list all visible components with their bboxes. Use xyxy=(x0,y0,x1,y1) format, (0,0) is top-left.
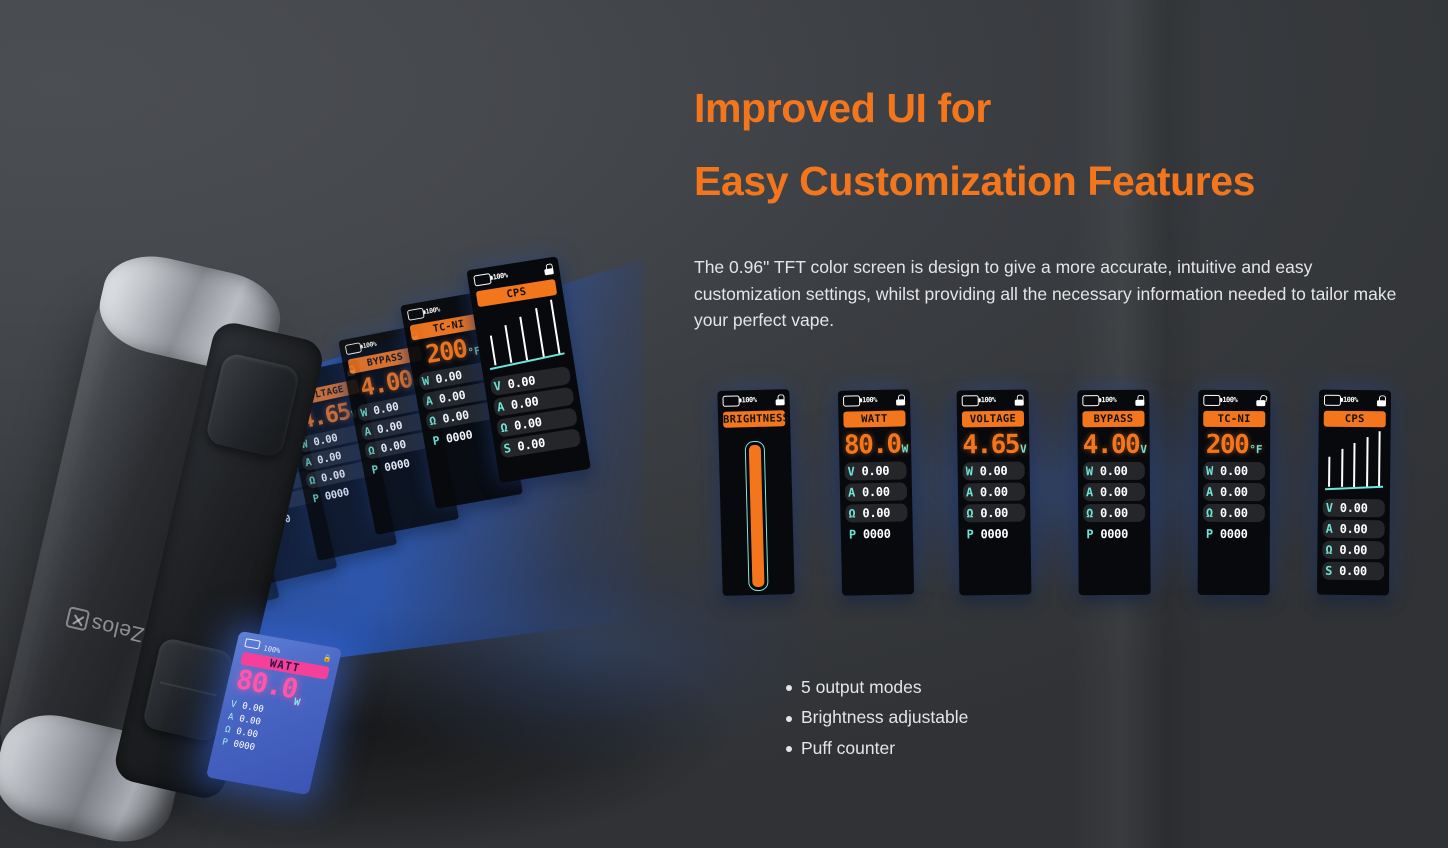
main-value-voltage: 4.65V xyxy=(962,431,1024,458)
metric-row: V0.00 xyxy=(1323,498,1385,517)
lock-icon: 🔒 xyxy=(322,653,332,662)
metric-rows: W0.00A0.00Ω0.00P0000 xyxy=(1203,461,1265,542)
metric-value: 0.00 xyxy=(441,407,470,425)
metric-value: 0.00 xyxy=(376,418,403,436)
metric-value: 0.00 xyxy=(980,484,1008,498)
bullet-item-0: 5 output modes xyxy=(786,674,968,701)
metric-value: 0000 xyxy=(863,526,891,541)
x-logo-icon xyxy=(65,606,90,631)
metric-label: P xyxy=(849,527,863,541)
metric-value: 0000 xyxy=(980,526,1008,540)
metric-row: P0000 xyxy=(846,524,908,543)
metric-label: A xyxy=(1326,521,1340,535)
metric-value: 0.00 xyxy=(510,394,540,412)
main-unit: °F xyxy=(1249,443,1262,456)
metric-row: Ω0.00 xyxy=(1322,540,1384,559)
metric-rows: W0.00A0.00Ω0.00P0000 xyxy=(963,461,1026,543)
metric-label: Ω xyxy=(1086,506,1100,520)
mode-badge-cps[interactable]: CPS xyxy=(1324,411,1386,427)
battery-indicator: 100% xyxy=(1203,395,1237,406)
lock-icon xyxy=(1256,395,1265,406)
battery-indicator: 100% xyxy=(345,339,377,354)
lock-icon xyxy=(543,263,554,275)
puff-bar xyxy=(535,308,545,358)
metric-value: 0.00 xyxy=(1339,563,1367,577)
battery-percent: 100% xyxy=(492,272,508,282)
mode-badge-brightness[interactable]: BRIGHTNESS xyxy=(723,410,785,427)
screen-statusbar: 100% xyxy=(843,394,905,407)
device-row-value: 0.00 xyxy=(241,702,265,716)
puff-bar xyxy=(550,299,561,355)
metric-row: W0.00 xyxy=(963,461,1025,480)
metric-value: 0.00 xyxy=(861,463,889,478)
metric-value: 0.00 xyxy=(1339,542,1367,556)
metric-label: S xyxy=(1325,563,1339,577)
battery-icon xyxy=(722,395,739,406)
battery-icon xyxy=(962,395,979,406)
metric-rows: V0.00A0.00Ω0.00S0.00 xyxy=(1322,498,1385,580)
main-value-bypass: 4.00V xyxy=(1083,431,1145,457)
metric-label: Ω xyxy=(1325,542,1339,556)
battery-indicator: 100% xyxy=(473,270,508,286)
metric-value: 0.00 xyxy=(1340,521,1368,535)
battery-indicator: 100% xyxy=(407,305,441,321)
main-value-tc-ni: 200°F xyxy=(1203,431,1265,457)
puff-bar xyxy=(1329,456,1331,486)
main-value-watt: 80.0W xyxy=(844,431,907,458)
bullet-text: Puff counter xyxy=(801,738,895,758)
metric-value: 0.00 xyxy=(980,463,1008,477)
metric-value: 0.00 xyxy=(316,449,342,466)
metric-row: A0.00 xyxy=(1323,519,1385,538)
metric-label: Ω xyxy=(848,506,862,520)
puff-counter-graph xyxy=(1325,432,1384,497)
battery-percent: 100% xyxy=(741,396,756,404)
screen-statusbar: 100% xyxy=(722,394,784,408)
metric-value: 0.00 xyxy=(862,505,890,520)
puff-bar xyxy=(519,316,528,360)
ui-screens-row: 100%BRIGHTNESS100%WATT80.0WV0.00A0.00Ω0.… xyxy=(700,372,1412,612)
metric-label: Ω xyxy=(966,506,980,520)
battery-indicator: 100% xyxy=(843,395,877,406)
bullet-dot xyxy=(786,716,792,722)
metric-label: V xyxy=(1326,500,1340,514)
metric-rows: V0.00A0.00Ω0.00S0.00 xyxy=(489,365,581,458)
puff-bar xyxy=(1353,442,1355,486)
bullet-item-2: Puff counter xyxy=(786,735,968,762)
battery-icon xyxy=(407,308,425,321)
screen-statusbar: 100% xyxy=(962,395,1024,408)
battery-icon xyxy=(473,273,491,286)
metric-row: P0000 xyxy=(1083,524,1145,542)
metric-value: 0000 xyxy=(445,427,474,445)
battery-percent: 100% xyxy=(981,396,996,404)
metric-value: 0.00 xyxy=(1100,505,1128,519)
lock-icon xyxy=(775,394,784,405)
puff-bar xyxy=(1366,437,1369,487)
metric-value: 0.00 xyxy=(372,399,399,417)
device-illustration: 100%BRIGHTNESS100%WATT80.0WV0.00A0.00Ω0.… xyxy=(0,230,680,848)
screen-statusbar: 100% xyxy=(1203,395,1265,407)
puff-counter-graph xyxy=(481,300,566,375)
mode-badge-bypass[interactable]: BYPASS xyxy=(1082,411,1144,427)
battery-percent: 100% xyxy=(1101,396,1116,404)
main-number: 4.65 xyxy=(962,429,1019,460)
main-number: 200 xyxy=(1206,429,1249,459)
metric-value: 0.00 xyxy=(379,437,406,455)
metric-label: W xyxy=(966,464,980,478)
metric-value: 0.00 xyxy=(434,368,463,386)
lock-icon xyxy=(1135,395,1144,406)
metric-rows: V0.00A0.00Ω0.00P0000 xyxy=(844,461,908,543)
metric-row: A0.00 xyxy=(1083,482,1145,500)
metric-value: 0.00 xyxy=(1220,505,1248,519)
metric-label: Ω xyxy=(1206,505,1220,519)
metric-row: Ω0.00 xyxy=(845,503,907,522)
screen-cps[interactable]: 100%CPSV0.00A0.00Ω0.00S0.00 xyxy=(1317,390,1391,596)
metric-row: W0.00 xyxy=(1083,461,1145,479)
metric-value: 0000 xyxy=(383,456,410,474)
metric-value: 0.00 xyxy=(980,505,1008,519)
screen-statusbar: 100% xyxy=(1324,395,1386,408)
metric-value: 0.00 xyxy=(1220,484,1248,498)
metric-row: S0.00 xyxy=(1322,561,1384,580)
battery-icon xyxy=(345,342,362,354)
main-number: 200 xyxy=(424,334,469,369)
metric-value: 0.00 xyxy=(1100,463,1128,477)
metric-row: Ω0.00 xyxy=(963,503,1025,522)
bullet-text: 5 output modes xyxy=(801,677,922,697)
puff-bar xyxy=(1378,431,1381,487)
metric-row: A0.00 xyxy=(963,482,1025,501)
metric-label: A xyxy=(1086,485,1100,499)
metric-rows: W0.00A0.00Ω0.00P0000 xyxy=(1083,461,1146,542)
metric-value: 0.00 xyxy=(1340,500,1368,514)
lock-icon xyxy=(1015,395,1024,406)
mode-badge-tc-ni[interactable]: TC-NI xyxy=(1203,411,1265,427)
metric-label: P xyxy=(1206,526,1220,540)
screen-watt[interactable]: 100%WATT80.0WV0.00A0.00Ω0.00P0000 xyxy=(838,389,914,595)
battery-percent: 100% xyxy=(1222,396,1237,404)
metric-row: W0.00 xyxy=(1203,461,1265,479)
bullet-item-1: Brightness adjustable xyxy=(786,704,968,731)
page-title-line-1: Improved UI for xyxy=(694,72,1414,145)
device-row-value: 0.00 xyxy=(238,715,262,729)
screen-bypass[interactable]: 100%BYPASS4.00VW0.00A0.00Ω0.00P0000 xyxy=(1077,390,1150,595)
battery-percent: 100% xyxy=(1343,396,1358,404)
metric-row: A0.00 xyxy=(845,482,907,501)
device-main-unit: W xyxy=(293,697,300,709)
device-row-label: V xyxy=(230,700,238,711)
main-unit: V xyxy=(1020,442,1027,455)
bullet-list: 5 output modesBrightness adjustablePuff … xyxy=(786,674,968,762)
bullet-dot xyxy=(786,746,792,752)
metric-label: P xyxy=(1086,527,1100,541)
metric-label: V xyxy=(847,464,861,478)
metric-label: A xyxy=(848,485,862,499)
battery-percent: 100% xyxy=(425,306,440,316)
screen-voltage[interactable]: 100%VOLTAGE4.65VW0.00A0.00Ω0.00P0000 xyxy=(957,390,1032,596)
metric-label: A xyxy=(966,485,980,499)
battery-icon xyxy=(843,395,860,406)
metric-row: Ω0.00 xyxy=(1203,503,1265,521)
metric-value: 0.00 xyxy=(1220,463,1248,477)
puff-bar xyxy=(489,335,496,365)
battery-indicator: 100% xyxy=(722,395,756,406)
metric-label: A xyxy=(1206,484,1220,498)
metric-row: V0.00 xyxy=(844,461,906,480)
battery-icon xyxy=(1203,395,1220,406)
device-row-label: P xyxy=(221,738,229,749)
metric-row: P0000 xyxy=(1203,524,1265,542)
metric-value: 0.00 xyxy=(516,435,546,453)
metric-row: A0.00 xyxy=(1203,482,1265,500)
puff-bar xyxy=(1341,448,1343,486)
metric-value: 0000 xyxy=(1100,526,1128,540)
metric-row: Ω0.00 xyxy=(1083,503,1145,521)
metric-row: P0000 xyxy=(963,524,1025,543)
device-row-value: 0.00 xyxy=(235,727,259,741)
metric-value: 0.00 xyxy=(513,414,543,432)
lock-icon xyxy=(896,394,905,405)
metric-value: 0.00 xyxy=(312,431,338,448)
battery-icon xyxy=(1082,395,1099,406)
screen-tc-ni[interactable]: 100%TC-NI200°FW0.00A0.00Ω0.00P0000 xyxy=(1198,390,1271,595)
device-row-value: 0000 xyxy=(232,740,256,754)
device-row-label: Ω xyxy=(224,725,232,736)
battery-icon xyxy=(1324,395,1341,406)
screens-glow xyxy=(690,382,1420,597)
metric-value: 0000 xyxy=(1220,526,1248,540)
metric-value: 0.00 xyxy=(862,484,890,499)
metric-value: 0000 xyxy=(324,485,350,502)
bullet-dot xyxy=(786,685,792,691)
battery-indicator: 100% xyxy=(962,395,996,406)
metric-value: 0.00 xyxy=(507,373,537,391)
battery-indicator: 100% xyxy=(1324,395,1358,406)
metric-value: 0.00 xyxy=(320,467,346,484)
main-number: 80.0 xyxy=(844,429,901,460)
description-paragraph: The 0.96" TFT color screen is design to … xyxy=(694,254,1410,334)
battery-percent: 100% xyxy=(362,340,377,350)
screen-brightness[interactable]: 100%BRIGHTNESS xyxy=(717,389,794,596)
device-row-label: A xyxy=(227,713,235,724)
battery-percent: 100% xyxy=(263,644,281,655)
main-number: 4.00 xyxy=(1083,429,1140,459)
product-feature-banner: 100%BRIGHTNESS100%WATT80.0WV0.00A0.00Ω0.… xyxy=(0,0,1448,848)
battery-indicator: 100% xyxy=(1082,395,1116,406)
page-title-line-2: Easy Customization Features xyxy=(694,145,1414,218)
battery-icon xyxy=(244,638,261,649)
metric-label: W xyxy=(1206,463,1220,477)
screen-statusbar: 100% xyxy=(1082,395,1144,407)
mode-badge-watt[interactable]: WATT xyxy=(843,410,905,427)
mode-badge-voltage[interactable]: VOLTAGE xyxy=(962,411,1024,427)
metric-value: 0.00 xyxy=(1100,484,1128,498)
bullet-text: Brightness adjustable xyxy=(801,707,968,727)
lock-icon xyxy=(1377,395,1386,406)
metric-label: W xyxy=(1086,464,1100,478)
battery-percent: 100% xyxy=(862,396,877,404)
metric-value: 0.00 xyxy=(438,388,467,406)
metric-label: P xyxy=(966,527,980,541)
brightness-slider[interactable] xyxy=(745,440,769,590)
feature-bullet-list: 5 output modesBrightness adjustablePuff … xyxy=(786,674,968,765)
main-unit: W xyxy=(902,442,909,455)
main-unit: V xyxy=(1140,442,1147,455)
marketing-copy: Improved UI for Easy Customization Featu… xyxy=(694,72,1414,334)
puff-bar xyxy=(504,325,512,363)
